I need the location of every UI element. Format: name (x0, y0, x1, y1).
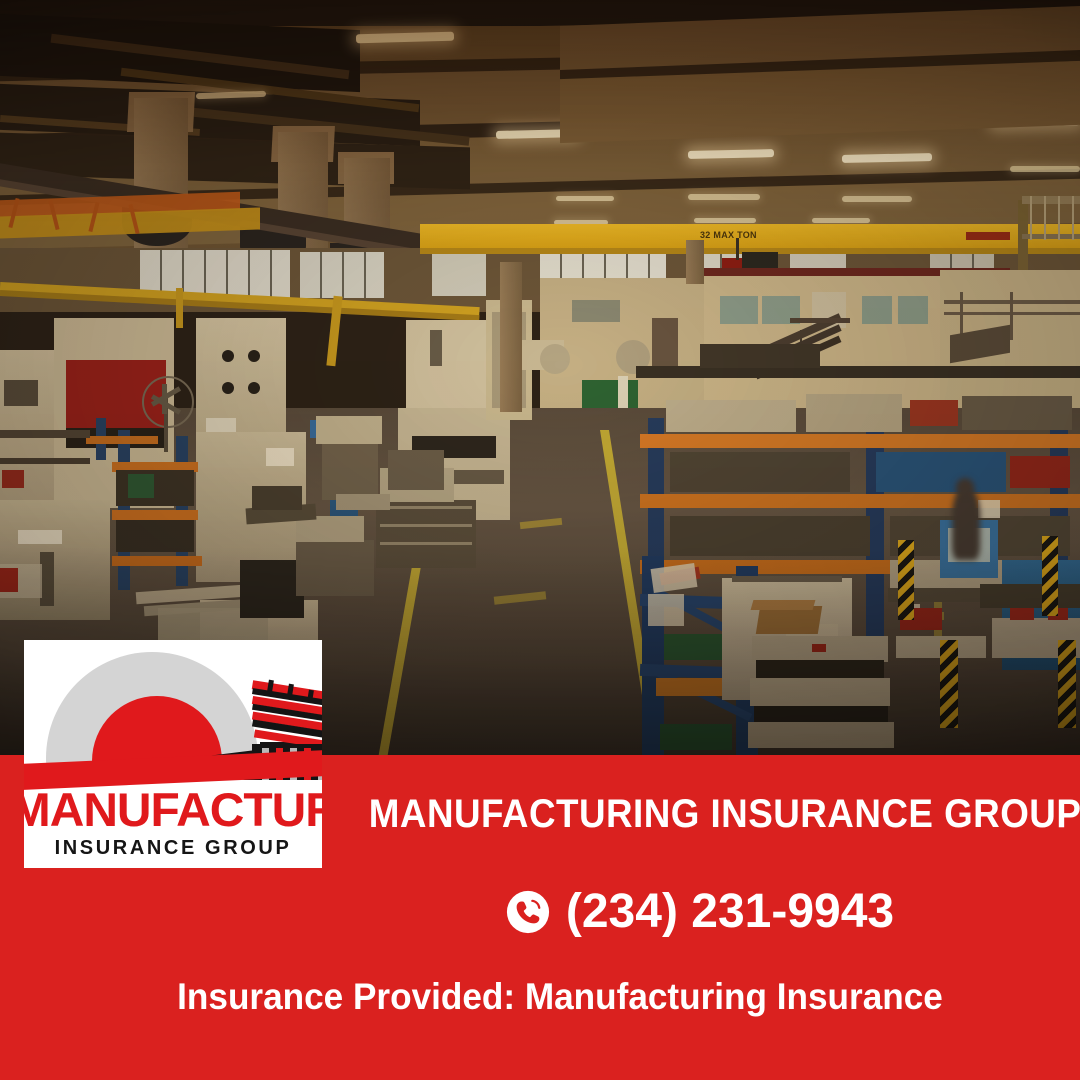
rack-beam-r2 (640, 494, 1080, 508)
die-gap-2 (754, 706, 888, 722)
catwalk-post (1058, 196, 1060, 240)
mezz-rail (0, 430, 90, 438)
panel-edge (732, 576, 842, 582)
window-mullion (320, 252, 322, 298)
rack-stock-2 (116, 520, 194, 552)
upper-stock (700, 344, 820, 368)
column-mid-1 (500, 262, 522, 412)
green-machine (582, 380, 638, 410)
press-ram (430, 330, 442, 366)
rack-blue-stock (876, 452, 1006, 492)
fan-blade (162, 384, 167, 414)
foreground-green-crate-2 (660, 724, 732, 750)
phone-number[interactable]: (234) 231-9943 (566, 888, 894, 936)
machine-red-panel (0, 568, 18, 592)
ceiling-lamp-13 (812, 218, 870, 223)
logo-main-word: MANUFACTURING (24, 786, 322, 833)
catwalk-post (1072, 196, 1074, 240)
die-marker-red (812, 644, 826, 652)
ceiling-lamp-12 (694, 218, 756, 223)
window-mullion (364, 252, 366, 298)
die-stack-2 (750, 678, 890, 706)
pallet-cage (240, 560, 304, 618)
worker-head (956, 478, 974, 496)
rack-stock-r4 (670, 452, 850, 492)
ceiling-lamp-11 (556, 196, 614, 201)
worker-far (618, 376, 628, 408)
ceiling-lamp-10 (842, 196, 912, 202)
cabinet-dial-1 (222, 350, 234, 362)
red-clamp (1010, 608, 1034, 620)
cage-bar (380, 506, 472, 509)
cart-right-aisle (388, 450, 444, 490)
worker-walking (952, 488, 980, 560)
clerestory-window-3 (432, 252, 486, 296)
office-window-1 (720, 296, 758, 324)
column-mid-2 (686, 240, 704, 284)
catwalk-post (1044, 196, 1046, 240)
poster: 32 MAX TON (0, 0, 1080, 1080)
crane-capacity-label: 32 MAX TON (700, 230, 757, 240)
press-control-panel (4, 380, 38, 406)
ceiling-lamp-9 (688, 194, 760, 200)
cabinet-dial-3 (222, 382, 234, 394)
rack-red-stock (1010, 456, 1070, 488)
phone-icon (506, 890, 550, 934)
machine-mid-1 (322, 440, 378, 500)
cage-bar (380, 524, 472, 527)
office-landing (790, 318, 850, 323)
rack-box-white (648, 594, 684, 626)
cabinet-dial-2 (248, 350, 260, 362)
die-stack-3 (748, 722, 894, 748)
dark-bench-right (980, 584, 1080, 608)
machine-bottom-left (0, 500, 110, 620)
cage-cart-1 (376, 500, 476, 568)
hazard-post-4 (1058, 640, 1076, 728)
small-hopper (252, 486, 302, 510)
cabinet-dial-4 (248, 382, 260, 394)
reel (540, 344, 570, 374)
crane-marker (966, 232, 1010, 240)
hazard-post-1 (898, 540, 914, 620)
cage-bar (380, 542, 472, 545)
rack-tag (978, 500, 1000, 518)
logo-sub-word: INSURANCE GROUP (24, 838, 322, 858)
foreground-green-crate (664, 634, 724, 660)
rack-stock-r2 (806, 394, 902, 432)
company-logo-card: MANUFACTURING INSURANCE GROUP (24, 640, 322, 868)
company-title: MANUFACTURING INSURANCE GROUP (369, 792, 1031, 837)
hazard-post-2 (1042, 536, 1058, 616)
phone-row[interactable]: (234) 231-9943 (340, 888, 1060, 936)
rack-beam-left-3 (112, 556, 202, 566)
rack-stock-r3 (962, 396, 1072, 430)
logo-wordmark: MANUFACTURING INSURANCE GROUP (24, 780, 322, 868)
hazard-post-3 (940, 640, 958, 728)
window-mullion (248, 250, 250, 298)
machine-mid-top (316, 416, 382, 444)
rack-stock-r1 (666, 400, 796, 432)
machine-label-left (18, 530, 62, 544)
office-window-3 (862, 296, 892, 324)
coverage-line: Insurance Provided: Manufacturing Insura… (161, 976, 959, 1018)
catwalk-post (1030, 196, 1032, 240)
machine-plate (266, 448, 294, 466)
rear-window (572, 300, 620, 322)
rack-crate-green (128, 474, 154, 498)
rack-stock-red (910, 400, 958, 426)
rack-beam-left-4 (86, 436, 158, 444)
mezz-rail-2 (0, 458, 90, 464)
office-window-4 (898, 296, 928, 324)
machine-post-left (40, 552, 54, 606)
wall-pipe-vert (1010, 292, 1013, 340)
window-mullion (270, 250, 272, 298)
cart-box (296, 540, 374, 596)
cardboard-box-lid (751, 600, 816, 610)
crane-cable (736, 238, 739, 260)
window-mullion (226, 250, 228, 298)
rack-beam-left-2 (112, 510, 198, 520)
die-gap-1 (756, 660, 884, 678)
rack-beam-r1 (640, 434, 1080, 448)
ceiling-lamp-8 (1010, 166, 1080, 172)
red-bin (2, 470, 24, 488)
cart-top-plate (336, 494, 390, 510)
monorail-post-2 (176, 288, 183, 328)
rack-stock-r5 (670, 516, 870, 556)
window-mullion (342, 252, 344, 298)
cardboard-box (756, 606, 822, 634)
window-mullion (204, 250, 206, 298)
